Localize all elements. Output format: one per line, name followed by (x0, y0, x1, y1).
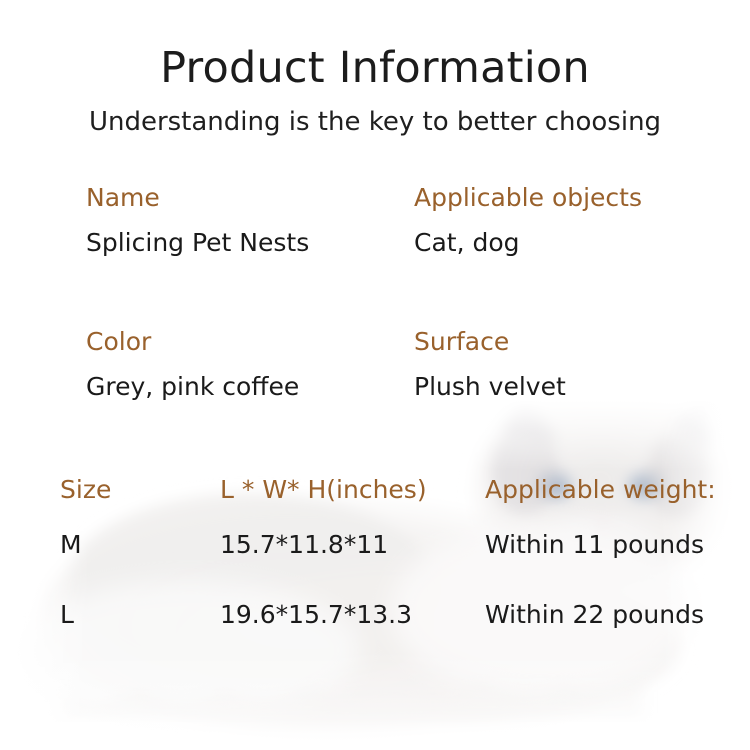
spec-color: Color Grey, pink coffee (86, 328, 299, 400)
spec-name: Name Splicing Pet Nests (86, 184, 309, 256)
spec-color-value: Grey, pink coffee (86, 373, 299, 401)
size-table-header-dimensions: L * W* H(inches) (220, 470, 485, 510)
size-table-header-weight: Applicable weight: (485, 470, 750, 510)
table-row: L 19.6*15.7*13.3 Within 22 pounds (60, 580, 750, 650)
spec-surface-value: Plush velvet (414, 373, 566, 401)
spec-applicable-objects-value: Cat, dog (414, 229, 642, 257)
size-table-header-row: Size L * W* H(inches) Applicable weight: (60, 470, 750, 510)
spec-applicable-objects-label: Applicable objects (414, 184, 642, 212)
spec-surface: Surface Plush velvet (414, 328, 566, 400)
size-table: Size L * W* H(inches) Applicable weight:… (60, 470, 750, 650)
page-subtitle: Understanding is the key to better choos… (0, 108, 750, 138)
spec-applicable-objects: Applicable objects Cat, dog (414, 184, 642, 256)
dimensions-cell-m: 15.7*11.8*11 (220, 510, 485, 580)
spec-name-label: Name (86, 184, 309, 212)
dimensions-cell-l: 19.6*15.7*13.3 (220, 580, 485, 650)
spec-name-value: Splicing Pet Nests (86, 229, 309, 257)
size-cell-l: L (60, 580, 220, 650)
product-information-page: Product Information Understanding is the… (0, 0, 750, 750)
size-cell-m: M (60, 510, 220, 580)
weight-cell-m: Within 11 pounds (485, 510, 750, 580)
size-table-header-size: Size (60, 470, 220, 510)
table-row: M 15.7*11.8*11 Within 11 pounds (60, 510, 750, 580)
weight-cell-l: Within 22 pounds (485, 580, 750, 650)
spec-surface-label: Surface (414, 328, 566, 356)
spec-color-label: Color (86, 328, 299, 356)
page-title: Product Information (0, 46, 750, 91)
